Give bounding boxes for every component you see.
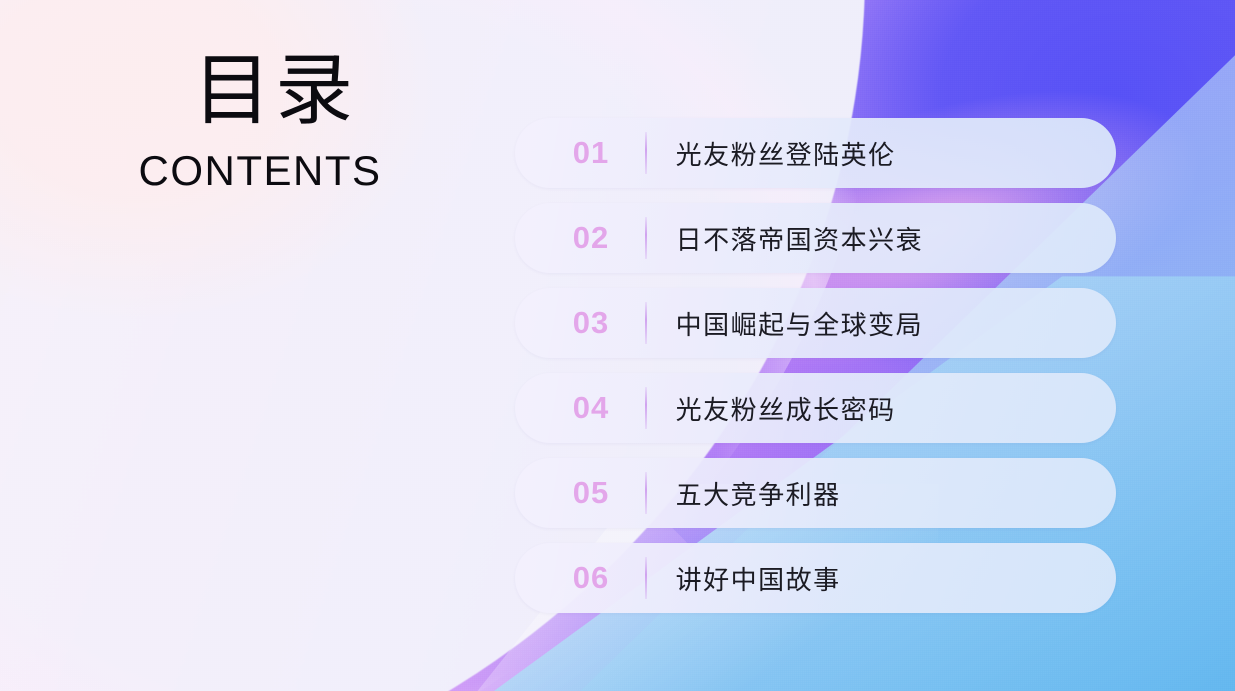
toc-item-02[interactable]: 02 日不落帝国资本兴衰: [515, 203, 1116, 273]
toc-number: 01: [537, 135, 645, 171]
toc-item-06[interactable]: 06 讲好中国故事: [515, 543, 1116, 613]
toc-label: 中国崛起与全球变局: [676, 305, 924, 342]
toc-label: 五大竞争利器: [676, 475, 841, 512]
page-title-cn: 目录: [78, 52, 438, 130]
toc-label: 光友粉丝登陆英伦: [676, 135, 896, 172]
toc-label: 光友粉丝成长密码: [676, 390, 896, 427]
page-title-en: CONTENTS: [78, 150, 438, 192]
toc-item-01[interactable]: 01 光友粉丝登陆英伦: [515, 118, 1116, 188]
toc-number: 03: [537, 305, 645, 341]
toc-item-05[interactable]: 05 五大竞争利器: [515, 458, 1116, 528]
toc-divider: [645, 387, 647, 429]
toc-divider: [645, 472, 647, 514]
toc-divider: [645, 302, 647, 344]
toc-number: 06: [537, 560, 645, 596]
toc-number: 02: [537, 220, 645, 256]
toc-item-03[interactable]: 03 中国崛起与全球变局: [515, 288, 1116, 358]
contents-slide: 目录 CONTENTS 01 光友粉丝登陆英伦 02 日不落帝国资本兴衰 03 …: [0, 0, 1235, 691]
toc-number: 04: [537, 390, 645, 426]
toc-label: 讲好中国故事: [676, 560, 841, 597]
page-title: 目录 CONTENTS: [78, 52, 438, 192]
toc-divider: [645, 557, 647, 599]
toc-divider: [645, 217, 647, 259]
toc-divider: [645, 132, 647, 174]
toc-label: 日不落帝国资本兴衰: [676, 220, 924, 257]
toc-number: 05: [537, 475, 645, 511]
toc-item-04[interactable]: 04 光友粉丝成长密码: [515, 373, 1116, 443]
toc-list: 01 光友粉丝登陆英伦 02 日不落帝国资本兴衰 03 中国崛起与全球变局 04…: [515, 118, 1116, 613]
